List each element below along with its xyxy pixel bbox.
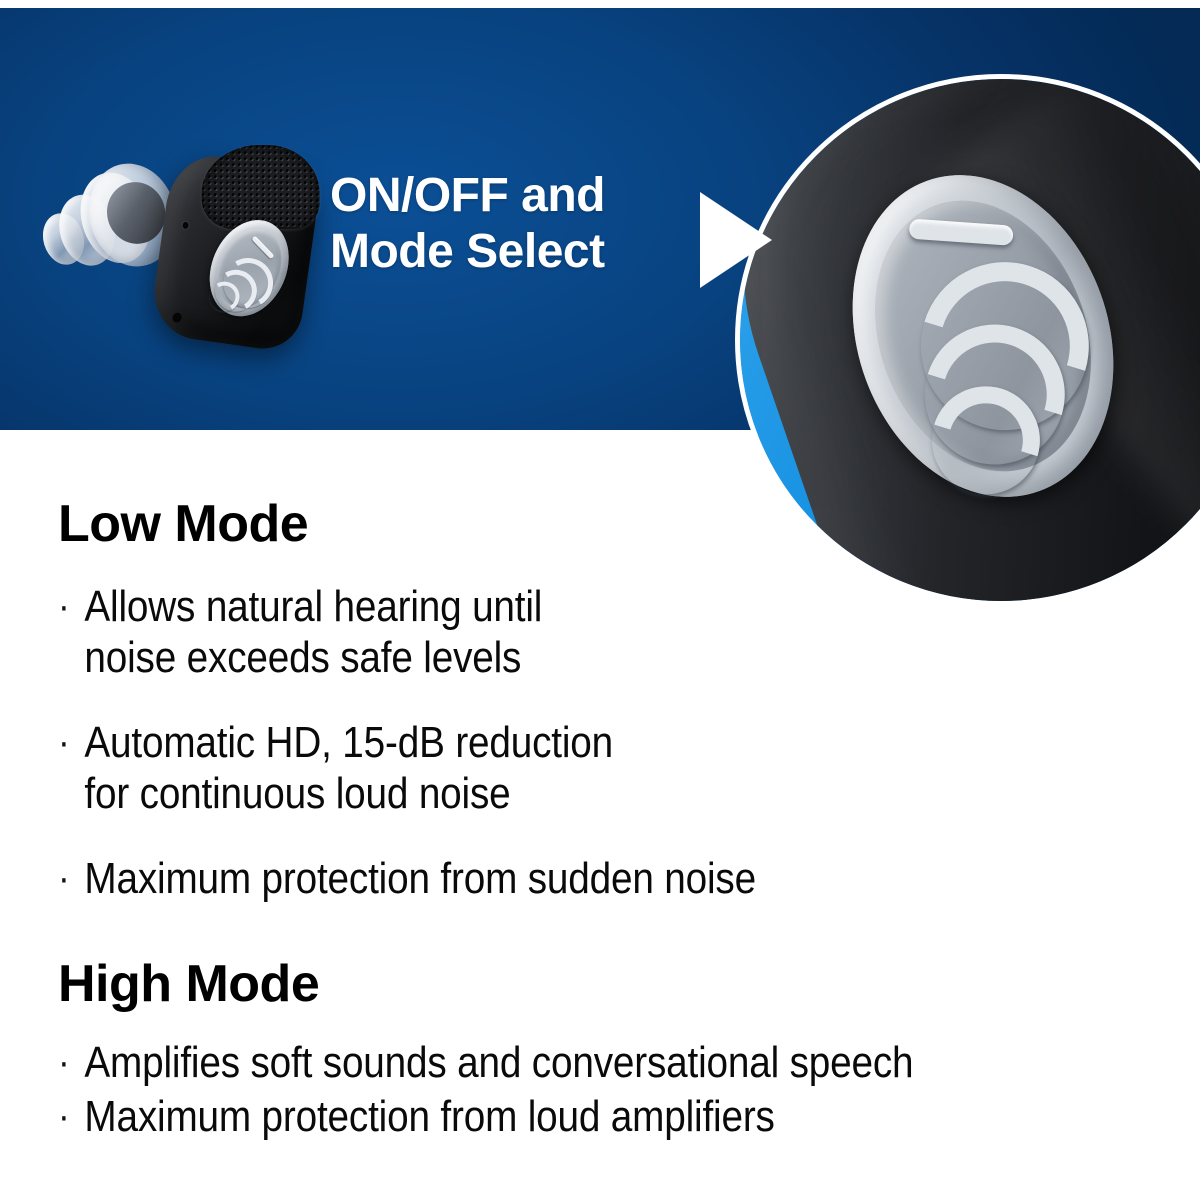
list-item: · Maximum protection from loud amplifier… (58, 1092, 775, 1143)
sound-wave-bar-small (251, 236, 274, 260)
list-item: · Automatic HD, 15-dB reduction for cont… (58, 718, 613, 819)
heading-low-mode: Low Mode (58, 498, 308, 550)
list-item: · Allows natural hearing until noise exc… (58, 582, 542, 683)
product-infographic: ON/OFF and Mode Select Low Mode · Allows… (0, 0, 1200, 1200)
earpiece-body (134, 123, 337, 357)
callout-line-2: Mode Select (330, 224, 690, 280)
earpiece-product-photo (38, 126, 338, 376)
list-item-text: Maximum protection from sudden noise (84, 854, 756, 905)
bullet-marker: · (58, 1038, 84, 1087)
list-item-text: Amplifies soft sounds and conversational… (84, 1038, 913, 1089)
sound-wave-bar-icon (909, 219, 1014, 246)
list-item-text: Allows natural hearing until noise excee… (84, 582, 542, 683)
list-item: · Amplifies soft sounds and conversation… (58, 1038, 913, 1089)
bullet-marker: · (58, 582, 84, 631)
callout-line-1: ON/OFF and (330, 168, 690, 224)
list-item: · Maximum protection from sudden noise (58, 854, 756, 905)
bullet-marker: · (58, 718, 84, 767)
right-arrow-icon (700, 192, 772, 288)
bullet-marker: · (58, 854, 84, 903)
bullet-marker: · (58, 1092, 84, 1141)
callout-text: ON/OFF and Mode Select (330, 168, 690, 279)
heading-high-mode: High Mode (58, 958, 319, 1010)
list-item-text: Maximum protection from loud amplifiers (84, 1092, 774, 1143)
list-item-text: Automatic HD, 15-dB reduction for contin… (84, 718, 613, 819)
microphone-grille-icon (202, 145, 320, 229)
